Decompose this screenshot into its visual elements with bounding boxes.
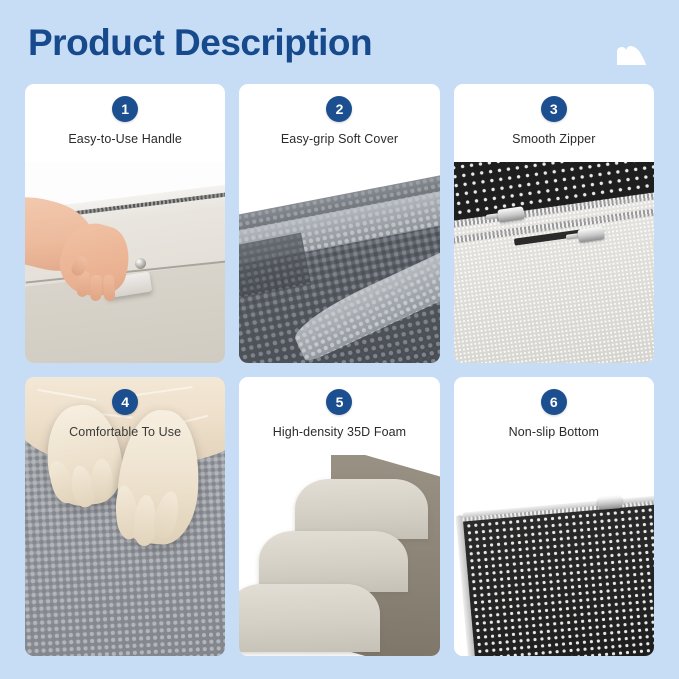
card-header-2: 2 Easy-grip Soft Cover (239, 84, 439, 162)
feature-card-6[interactable]: 6 Non-slip Bottom (454, 377, 654, 656)
card-header-5: 5 High-density 35D Foam (239, 377, 439, 455)
card-label-6: Non-slip Bottom (509, 425, 599, 439)
finger-ring (103, 274, 115, 301)
card-label-1: Easy-to-Use Handle (68, 132, 182, 146)
page-title: Product Description (28, 22, 372, 64)
card-header-4: 4 Comfortable To Use (25, 377, 225, 455)
feature-card-grid: 1 Easy-to-Use Handle 2 (25, 84, 654, 656)
card-label-4: Comfortable To Use (69, 425, 181, 439)
card-image-6 (454, 455, 654, 656)
non-slip-dotted-panel (458, 498, 654, 656)
step-badge-5: 5 (326, 389, 352, 415)
feature-card-2[interactable]: 2 Easy-grip Soft Cover (239, 84, 439, 363)
finger-middle (90, 274, 102, 300)
foam-step-top (295, 479, 427, 539)
step-badge-2: 2 (326, 96, 352, 122)
card-header-3: 3 Smooth Zipper (454, 84, 654, 162)
step-badge-6: 6 (541, 389, 567, 415)
card-header-6: 6 Non-slip Bottom (454, 377, 654, 455)
card-label-3: Smooth Zipper (512, 132, 595, 146)
step-badge-3: 3 (541, 96, 567, 122)
paw-toe (151, 490, 184, 542)
foam-step-bottom (239, 584, 379, 652)
feature-card-3[interactable]: 3 Smooth Zipper (454, 84, 654, 363)
feature-card-4[interactable]: 4 Comfortable To Use (25, 377, 225, 656)
card-header-1: 1 Easy-to-Use Handle (25, 84, 225, 162)
foam-step-middle (259, 531, 407, 591)
feature-card-5[interactable]: 5 High-density 35D Foam (239, 377, 439, 656)
step-badge-1: 1 (112, 96, 138, 122)
card-image-3 (454, 162, 654, 363)
card-label-5: High-density 35D Foam (273, 425, 406, 439)
cloud-decoration-icon (613, 40, 647, 66)
card-image-1 (25, 162, 225, 363)
step-badge-4: 4 (112, 389, 138, 415)
paw-toe (91, 459, 114, 500)
card-image-5 (239, 455, 439, 656)
bottom-zipper-slider (597, 496, 622, 510)
product-description-infographic: Product Description 1 Easy-to-Use Handle (0, 0, 679, 679)
card-image-2 (239, 162, 439, 363)
feature-card-1[interactable]: 1 Easy-to-Use Handle (25, 84, 225, 363)
card-label-2: Easy-grip Soft Cover (281, 132, 398, 146)
